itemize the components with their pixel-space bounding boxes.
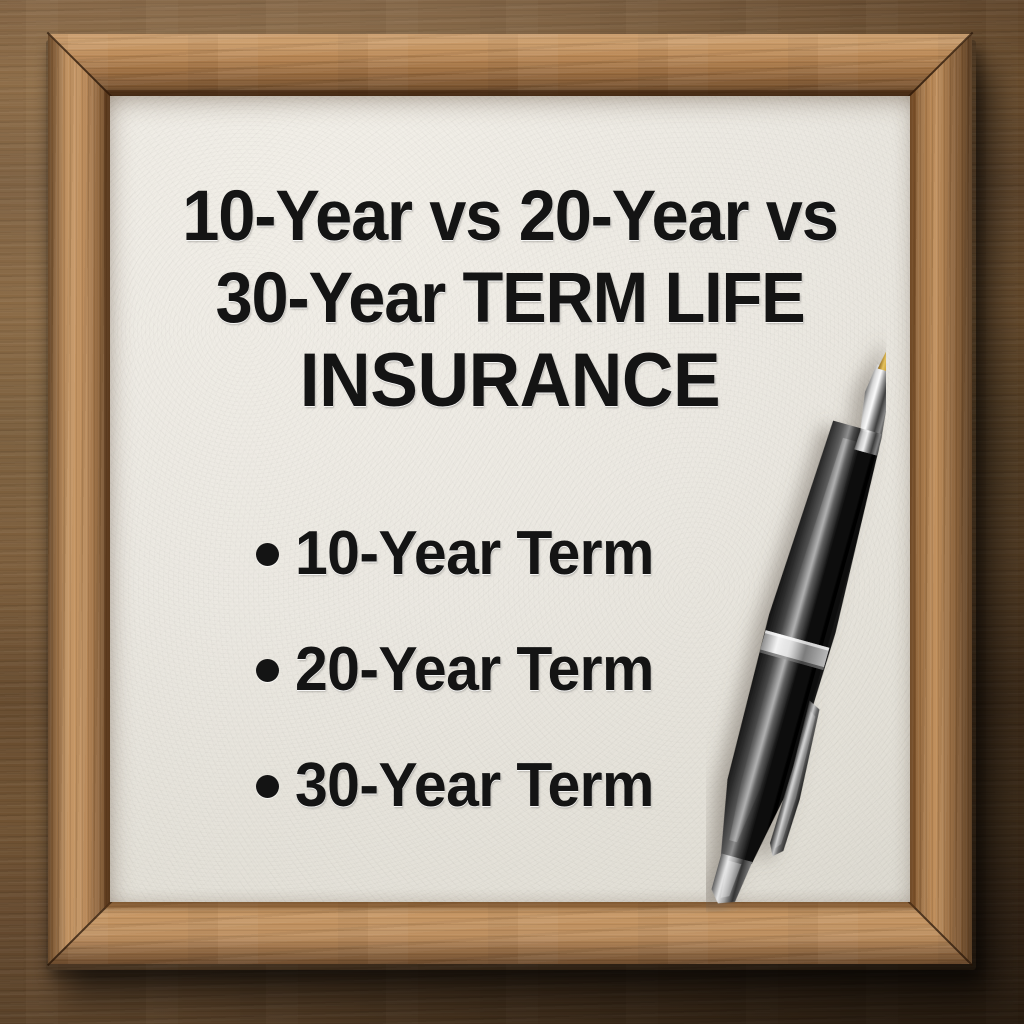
frame-rail-left <box>48 34 110 964</box>
frame-inner-bevel <box>104 90 916 908</box>
framed-board-scene: 10-Year vs 20-Year vs 30-Year TERM LIFE … <box>0 0 1024 1024</box>
frame-rail-bottom-shading <box>48 902 972 964</box>
frame-rail-left-shading <box>48 34 110 964</box>
frame-rail-right-shading <box>910 34 972 964</box>
wooden-picture-frame: 10-Year vs 20-Year vs 30-Year TERM LIFE … <box>48 34 972 964</box>
frame-rail-bottom <box>48 902 972 964</box>
frame-rail-right <box>910 34 972 964</box>
frame-rail-top <box>48 34 972 96</box>
frame-rail-top-shading <box>48 34 972 96</box>
